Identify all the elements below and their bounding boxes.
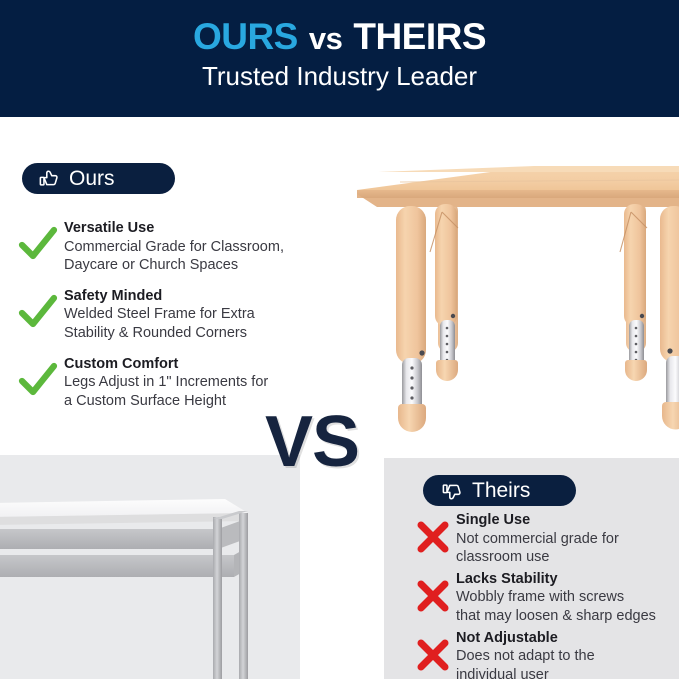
check-icon: [18, 360, 58, 402]
theirs-product-image: [0, 455, 275, 679]
feature-description: Does not adapt to the individual user: [456, 647, 595, 679]
vs-divider-label: VS: [265, 406, 359, 478]
page-title: OURSvsTHEIRS: [0, 18, 679, 55]
feature-title: Lacks Stability: [456, 571, 656, 589]
feature-description: Welded Steel Frame for Extra Stability &…: [64, 305, 255, 342]
list-item: Safety Minded Welded Steel Frame for Ext…: [18, 288, 318, 343]
thumbs-up-icon: [38, 168, 60, 190]
ours-product-image: [330, 120, 679, 460]
list-item: Single Use Not commercial grade for clas…: [414, 512, 679, 567]
x-mark-icon: [414, 519, 452, 555]
check-icon: [18, 224, 58, 266]
list-item-text: Not Adjustable Does not adapt to the ind…: [452, 630, 595, 679]
list-item-text: Lacks Stability Wobbly frame with screws…: [452, 571, 656, 626]
theirs-badge: Theirs: [423, 475, 576, 506]
list-item-text: Versatile Use Commercial Grade for Class…: [58, 220, 284, 275]
theirs-badge-label: Theirs: [472, 480, 530, 501]
feature-description: Legs Adjust in 1" Increments for a Custo…: [64, 373, 268, 410]
feature-title: Custom Comfort: [64, 356, 268, 374]
x-mark-icon: [414, 578, 452, 614]
thumbs-down-icon: [441, 480, 463, 502]
list-item-text: Safety Minded Welded Steel Frame for Ext…: [58, 288, 255, 343]
comparison-infographic: OURSvsTHEIRS Trusted Industry Leader: [0, 0, 679, 679]
feature-title: Versatile Use: [64, 220, 284, 238]
title-vs: vs: [309, 21, 342, 56]
ours-feature-list: Versatile Use Commercial Grade for Class…: [18, 220, 318, 423]
feature-title: Single Use: [456, 512, 619, 530]
ours-badge: Ours: [22, 163, 175, 194]
title-theirs: THEIRS: [353, 16, 486, 57]
list-item: Lacks Stability Wobbly frame with screws…: [414, 571, 679, 626]
feature-title: Not Adjustable: [456, 630, 595, 648]
list-item-text: Single Use Not commercial grade for clas…: [452, 512, 619, 567]
header-banner: OURSvsTHEIRS Trusted Industry Leader: [0, 0, 679, 117]
check-icon: [18, 292, 58, 334]
feature-description: Not commercial grade for classroom use: [456, 530, 619, 567]
ours-badge-label: Ours: [69, 168, 115, 189]
title-ours: OURS: [193, 16, 298, 57]
list-item-text: Custom Comfort Legs Adjust in 1" Increme…: [58, 356, 268, 411]
page-subtitle: Trusted Industry Leader: [0, 62, 679, 91]
feature-description: Commercial Grade for Classroom, Daycare …: [64, 238, 284, 275]
list-item: Versatile Use Commercial Grade for Class…: [18, 220, 318, 275]
feature-description: Wobbly frame with screws that may loosen…: [456, 588, 656, 625]
feature-title: Safety Minded: [64, 288, 255, 306]
x-mark-icon: [414, 637, 452, 673]
theirs-feature-list: Single Use Not commercial grade for clas…: [414, 512, 679, 679]
list-item: Not Adjustable Does not adapt to the ind…: [414, 630, 679, 679]
